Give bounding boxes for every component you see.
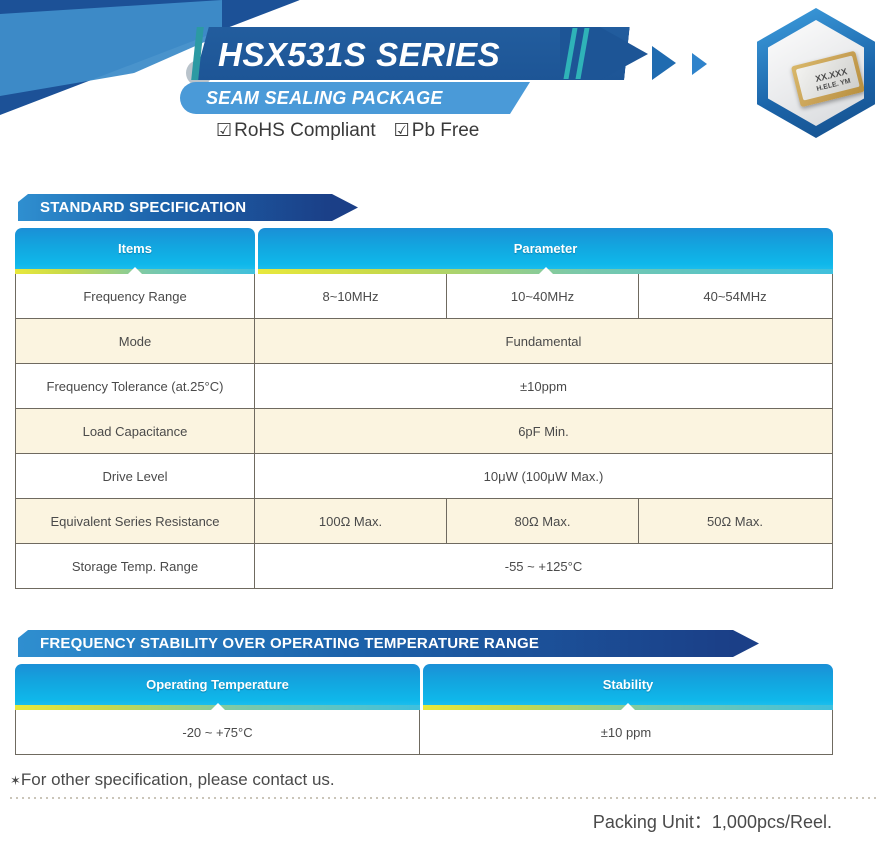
- row-label: Storage Temp. Range: [16, 544, 255, 588]
- spec-header-items-label: Items: [118, 241, 152, 256]
- chevron-right-icon-large: [652, 46, 676, 80]
- section-title: FREQUENCY STABILITY OVER OPERATING TEMPE…: [40, 630, 539, 657]
- row-value-operating-temperature: -20 ~ +75°C: [16, 710, 420, 754]
- asterisk-icon: ✶: [10, 773, 21, 788]
- stability-table-body: -20 ~ +75°C ±10 ppm: [15, 710, 833, 755]
- spec-table-header-row: Items Parameter: [15, 228, 833, 274]
- table-row: Mode Fundamental: [16, 319, 832, 364]
- row-value: ±10ppm: [255, 364, 832, 408]
- table-row: Storage Temp. Range -55 ~ +125°C: [16, 544, 832, 588]
- pbfree-label: Pb Free: [412, 120, 480, 141]
- crystal-package-image: XX.XXX H.ELE. YM: [791, 51, 865, 108]
- row-value: 10~40MHz: [447, 274, 639, 318]
- crystal-lid: XX.XXX H.ELE. YM: [796, 55, 860, 100]
- stability-header-stability-label: Stability: [603, 677, 654, 692]
- row-value: 10μW (100μW Max.): [255, 454, 832, 498]
- spec-table-body: Frequency Range 8~10MHz 10~40MHz 40~54MH…: [15, 274, 833, 589]
- series-title: HSX531S SERIES: [218, 33, 578, 77]
- section-header-standard-specification: STANDARD SPECIFICATION: [18, 194, 358, 221]
- row-label: Mode: [16, 319, 255, 363]
- row-value: 80Ω Max.: [447, 499, 639, 543]
- compliance-row: ☑RoHS Compliant☑Pb Free: [216, 116, 616, 144]
- header-notch: [539, 267, 553, 274]
- row-value: 50Ω Max.: [639, 499, 831, 543]
- section-title: STANDARD SPECIFICATION: [40, 194, 246, 221]
- section-arrow-tip: [332, 194, 358, 221]
- row-value: 6pF Min.: [255, 409, 832, 453]
- packing-unit: Packing Unit：1,000pcs/Reel.: [593, 808, 832, 834]
- table-row: Frequency Range 8~10MHz 10~40MHz 40~54MH…: [16, 274, 832, 319]
- stability-header-stability: Stability: [423, 664, 833, 710]
- section-arrow-tip: [733, 630, 759, 657]
- row-value: 40~54MHz: [639, 274, 831, 318]
- checkbox-checked-icon-rohs: ☑: [216, 120, 232, 140]
- row-value: Fundamental: [255, 319, 832, 363]
- footnote: ✶For other specification, please contact…: [10, 770, 335, 790]
- frequency-stability-table: Operating Temperature Stability -20 ~ +7…: [15, 664, 833, 755]
- row-value: 100Ω Max.: [255, 499, 447, 543]
- table-row: Frequency Tolerance (at.25°C) ±10ppm: [16, 364, 832, 409]
- rohs-label: RoHS Compliant: [234, 120, 376, 141]
- row-label: Drive Level: [16, 454, 255, 498]
- header-notch: [211, 703, 225, 710]
- row-value: 8~10MHz: [255, 274, 447, 318]
- table-row: -20 ~ +75°C ±10 ppm: [16, 710, 832, 754]
- footnote-text: For other specification, please contact …: [21, 770, 335, 789]
- header-notch: [128, 267, 142, 274]
- row-value: -55 ~ +125°C: [255, 544, 832, 588]
- stability-header-operating-temperature-label: Operating Temperature: [146, 677, 289, 692]
- row-label: Load Capacitance: [16, 409, 255, 453]
- dotted-divider: [8, 797, 876, 799]
- row-value-stability: ±10 ppm: [420, 710, 832, 754]
- spec-header-parameter: Parameter: [258, 228, 833, 274]
- header-notch: [621, 703, 635, 710]
- package-subtitle: SEAM SEALING PACKAGE: [206, 84, 526, 112]
- spec-header-parameter-label: Parameter: [514, 241, 578, 256]
- row-label: Equivalent Series Resistance: [16, 499, 255, 543]
- row-label: Frequency Range: [16, 274, 255, 318]
- product-hexagon-badge: XX.XXX H.ELE. YM: [757, 8, 875, 138]
- section-header-frequency-stability: FREQUENCY STABILITY OVER OPERATING TEMPE…: [18, 630, 778, 657]
- checkbox-checked-icon-pbfree: ☑: [394, 120, 410, 140]
- spec-header-items: Items: [15, 228, 255, 274]
- page-header: HSX531S SERIES SEAM SEALING PACKAGE XX.X…: [0, 0, 884, 160]
- standard-specification-table: Items Parameter Frequency Range 8~10MHz …: [15, 228, 833, 589]
- chevron-right-icon-small: [692, 53, 707, 75]
- table-row: Drive Level 10μW (100μW Max.): [16, 454, 832, 499]
- table-row: Equivalent Series Resistance 100Ω Max. 8…: [16, 499, 832, 544]
- stability-table-header-row: Operating Temperature Stability: [15, 664, 833, 710]
- stability-header-operating-temperature: Operating Temperature: [15, 664, 420, 710]
- row-label: Frequency Tolerance (at.25°C): [16, 364, 255, 408]
- table-row: Load Capacitance 6pF Min.: [16, 409, 832, 454]
